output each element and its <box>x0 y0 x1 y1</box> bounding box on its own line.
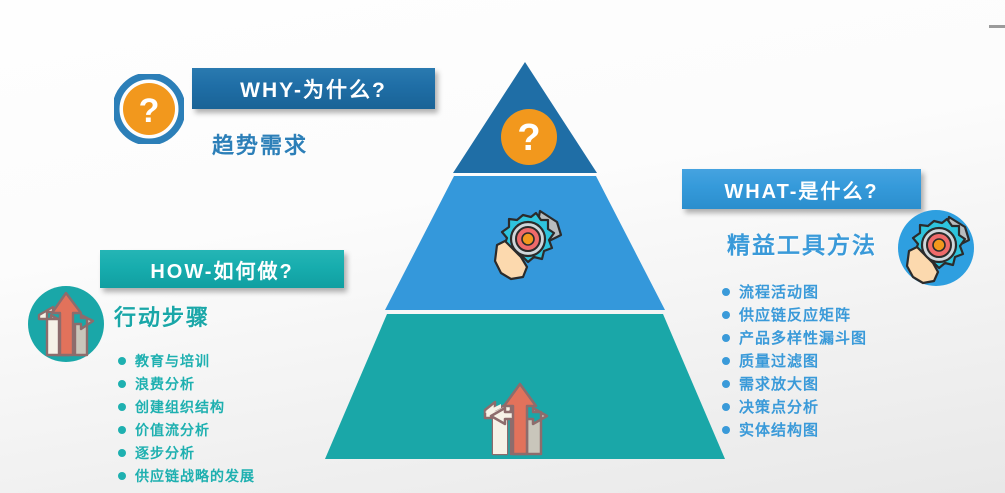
plate-why-label: WHY-为什么? <box>240 74 387 104</box>
list-item-label: 产品多样性漏斗图 <box>739 327 867 348</box>
bullet-dot-icon <box>722 403 730 411</box>
list-item-label: 创建组织结构 <box>135 397 225 417</box>
bullet-dot-icon <box>118 472 126 480</box>
bullet-dot-icon <box>722 357 730 365</box>
list-item-label: 价值流分析 <box>135 420 210 440</box>
list-item-label: 需求放大图 <box>739 373 819 394</box>
three-arrows-circle-icon <box>27 285 105 363</box>
list-item-label: 供应链反应矩阵 <box>739 304 851 325</box>
list-item[interactable]: 质量过滤图 <box>722 349 867 372</box>
list-item-label: 实体结构图 <box>739 419 819 440</box>
list-item[interactable]: 决策点分析 <box>722 395 867 418</box>
bullet-dot-icon <box>118 426 126 434</box>
subtitle-how: 行动步骤 <box>114 300 210 332</box>
svg-text:?: ? <box>139 92 160 130</box>
list-item-label: 逐步分析 <box>135 443 195 463</box>
subtitle-what: 精益工具方法 <box>727 226 877 260</box>
list-item-label: 质量过滤图 <box>739 350 819 371</box>
list-item-label: 供应链战略的发展 <box>135 466 255 486</box>
svg-text:?: ? <box>517 117 540 159</box>
bullet-dot-icon <box>118 449 126 457</box>
list-item[interactable]: 浪费分析 <box>118 372 255 395</box>
plate-how[interactable]: HOW-如何做? <box>100 250 344 288</box>
list-item[interactable]: 供应链反应矩阵 <box>722 303 867 326</box>
subtitle-why: 趋势需求 <box>212 128 308 160</box>
list-item[interactable]: 教育与培训 <box>118 349 255 372</box>
slide-canvas: ? ? WHY-为什么? 趋势需求 WHAT-是什么? 精益工具方法 <box>0 0 1005 493</box>
bullet-dot-icon <box>118 357 126 365</box>
bullet-dot-icon <box>722 334 730 342</box>
what-bullet-list: 流程活动图 供应链反应矩阵 产品多样性漏斗图 质量过滤图 需求放大图 决策点分析… <box>722 280 867 441</box>
gear-in-hand-icon <box>483 205 569 285</box>
plate-why[interactable]: WHY-为什么? <box>192 68 435 109</box>
list-item[interactable]: 实体结构图 <box>722 418 867 441</box>
how-bullet-list: 教育与培训 浪费分析 创建组织结构 价值流分析 逐步分析 供应链战略的发展 <box>118 349 255 487</box>
list-item-label: 流程活动图 <box>739 281 819 302</box>
bullet-dot-icon <box>722 288 730 296</box>
gear-in-hand-circle-icon <box>897 209 975 287</box>
top-right-dash <box>989 25 1005 28</box>
bullet-dot-icon <box>118 403 126 411</box>
bullet-dot-icon <box>722 380 730 388</box>
list-item[interactable]: 产品多样性漏斗图 <box>722 326 867 349</box>
list-item[interactable]: 逐步分析 <box>118 441 255 464</box>
list-item[interactable]: 创建组织结构 <box>118 395 255 418</box>
bullet-dot-icon <box>118 380 126 388</box>
list-item-label: 决策点分析 <box>739 396 819 417</box>
list-item-label: 浪费分析 <box>135 374 195 394</box>
list-item[interactable]: 流程活动图 <box>722 280 867 303</box>
plate-what[interactable]: WHAT-是什么? <box>682 169 921 209</box>
list-item[interactable]: 价值流分析 <box>118 418 255 441</box>
plate-what-label: WHAT-是什么? <box>724 175 878 204</box>
question-mark-circle-icon: ? <box>114 74 184 144</box>
list-item[interactable]: 供应链战略的发展 <box>118 464 255 487</box>
list-item-label: 教育与培训 <box>135 351 210 371</box>
bullet-dot-icon <box>722 311 730 319</box>
three-arrows-icon <box>481 382 559 458</box>
bullet-dot-icon <box>722 426 730 434</box>
list-item[interactable]: 需求放大图 <box>722 372 867 395</box>
plate-how-label: HOW-如何做? <box>150 255 293 284</box>
question-mark-icon: ? <box>500 108 558 166</box>
